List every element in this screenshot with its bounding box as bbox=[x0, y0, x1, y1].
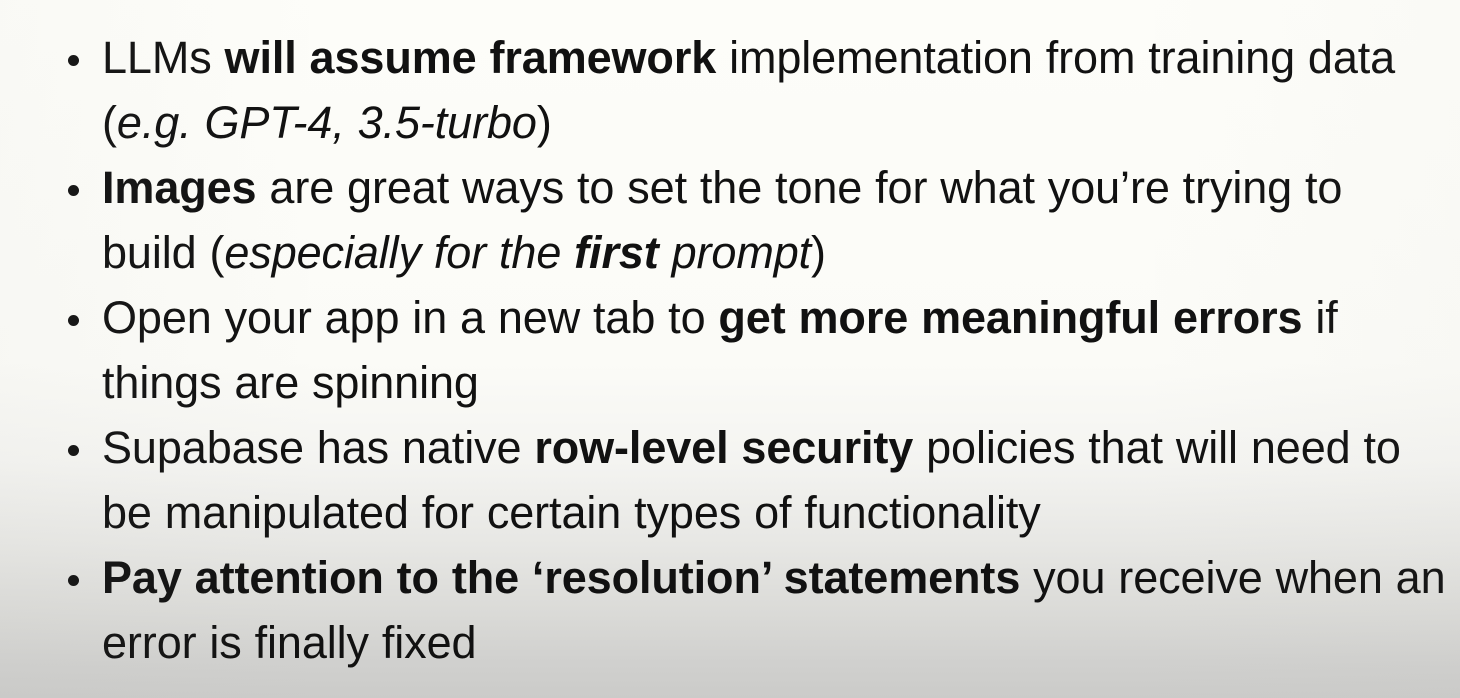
bullet-item-open-app-new-tab: Open your app in a new tab to get more m… bbox=[58, 286, 1448, 415]
text-run-normal: LLMs bbox=[102, 32, 225, 83]
text-run-normal: Open your app in a new tab to bbox=[102, 292, 718, 343]
text-run-italic: especially for the bbox=[224, 227, 574, 278]
bullet-text: Supabase has native row-level security p… bbox=[102, 416, 1448, 545]
bullet-dot-icon bbox=[68, 445, 79, 456]
text-run-bold: Images bbox=[102, 162, 256, 213]
bullet-dot-icon bbox=[68, 185, 79, 196]
text-run-normal: ) bbox=[537, 97, 552, 148]
text-run-bold-italic: first bbox=[574, 227, 659, 278]
text-run-normal: Supabase has native bbox=[102, 422, 534, 473]
text-run-bold: get more meaningful errors bbox=[718, 292, 1302, 343]
text-run-bold: row-level security bbox=[534, 422, 913, 473]
text-run-normal: ) bbox=[811, 227, 826, 278]
bullet-text: LLMs will assume framework implementatio… bbox=[102, 26, 1448, 155]
bullet-item-llms-assume-framework: LLMs will assume framework implementatio… bbox=[58, 26, 1448, 155]
text-run-bold: Pay attention to the ‘resolution’ statem… bbox=[102, 552, 1020, 603]
bullet-dot-icon bbox=[68, 55, 79, 66]
text-run-bold: will assume framework bbox=[225, 32, 717, 83]
bullet-item-images-set-the-tone: Images are great ways to set the tone fo… bbox=[58, 156, 1448, 285]
text-run-italic: e.g. GPT-4, 3.5-turbo bbox=[117, 97, 537, 148]
bullet-item-supabase-row-level-security: Supabase has native row-level security p… bbox=[58, 416, 1448, 545]
presentation-slide: LLMs will assume framework implementatio… bbox=[0, 0, 1460, 698]
text-run-italic: prompt bbox=[659, 227, 811, 278]
bullet-dot-icon bbox=[68, 575, 79, 586]
bullet-text: Pay attention to the ‘resolution’ statem… bbox=[102, 546, 1448, 675]
bullet-list: LLMs will assume framework implementatio… bbox=[58, 26, 1448, 676]
bullet-text: Open your app in a new tab to get more m… bbox=[102, 286, 1448, 415]
bullet-item-resolution-statements: Pay attention to the ‘resolution’ statem… bbox=[58, 546, 1448, 675]
bullet-dot-icon bbox=[68, 315, 79, 326]
bullet-text: Images are great ways to set the tone fo… bbox=[102, 156, 1448, 285]
